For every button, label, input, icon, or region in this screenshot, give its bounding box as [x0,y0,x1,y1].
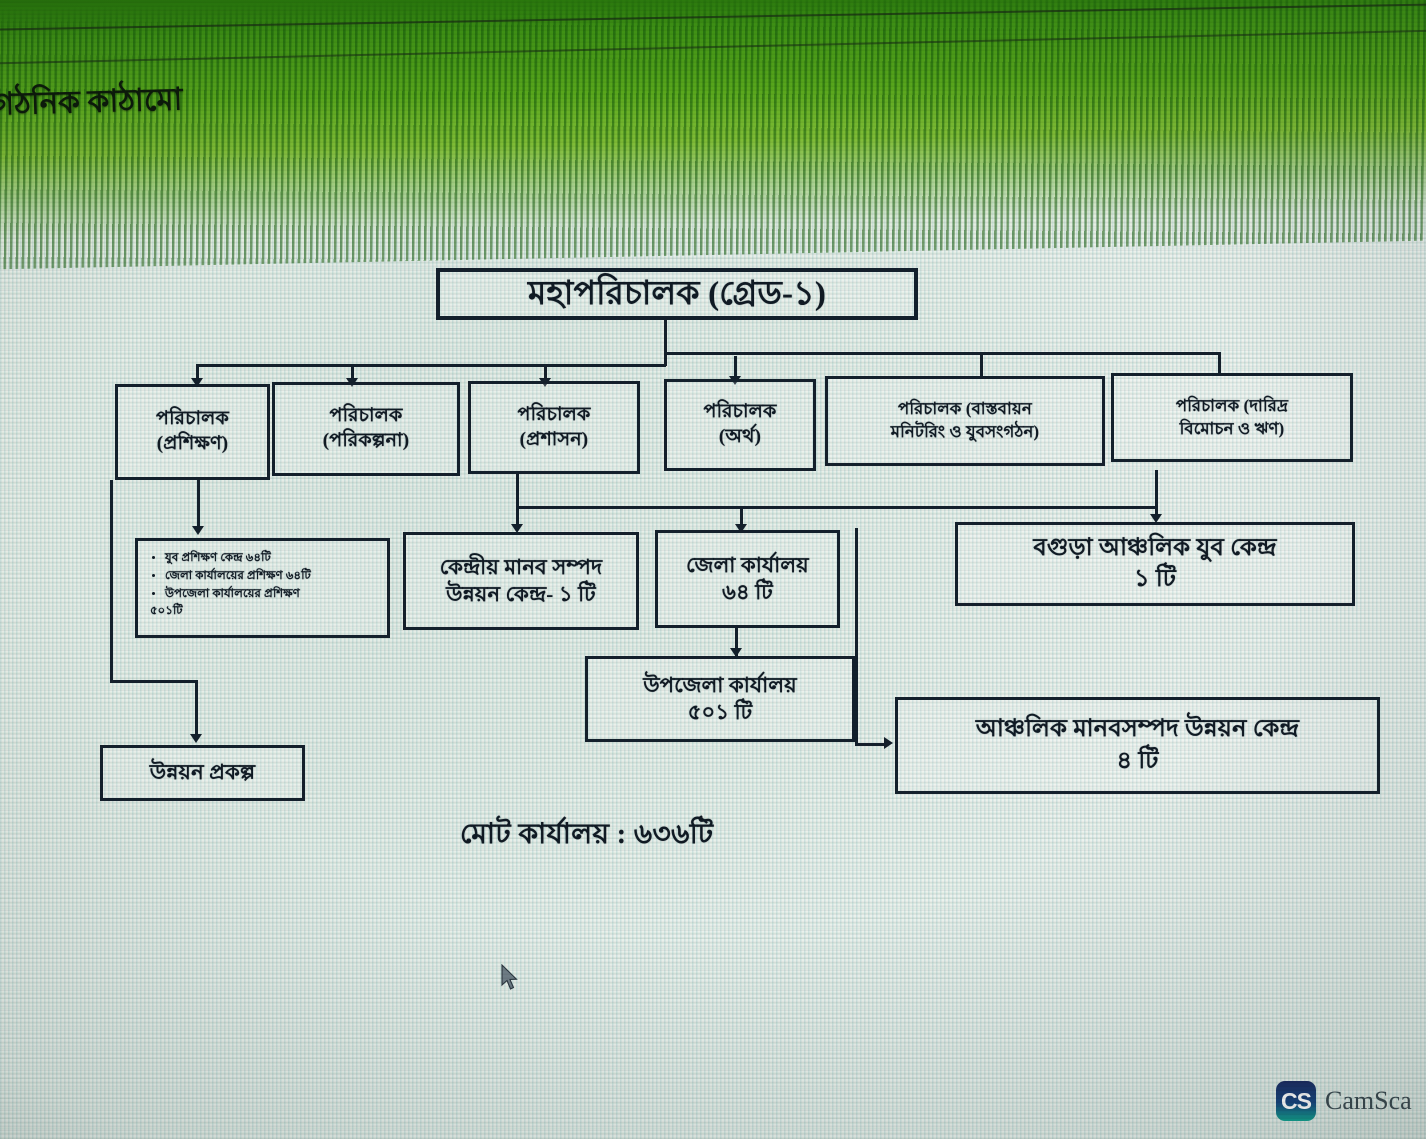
node-development-project[interactable]: উন্নয়ন প্রকল্প [100,745,305,801]
connector-bogura-down [1155,470,1158,518]
node-bogura-regional-youth-center[interactable]: বগুড়া আঞ্চলিক যুব কেন্দ্র ১ টি [955,522,1355,606]
node-upazila-office[interactable]: উপজেলা কার্যালয় ৫০১ টি [585,656,855,742]
node-label: মহাপরিচালক (গ্রেড-১) [528,273,826,316]
total-offices-caption: মোট কার্যালয় : ৬৩৬টি [460,812,713,859]
node-label-line1: জেলা কার্যালয় [686,552,809,579]
node-regional-hrd-center[interactable]: আঞ্চলিক মানবসম্পদ উন্নয়ন কেন্দ্র ৪ টি [895,697,1380,794]
node-central-hrd-center[interactable]: কেন্দ্রীয় মানব সম্পদ উন্নয়ন কেন্দ্র- ১… [403,532,639,630]
node-label-line1: বগুড়া আঞ্চলিক যুব কেন্দ্র [1033,533,1276,564]
node-label-line2: ৬৪ টি [722,579,773,606]
node-label-line2: বিমোচন ও ঋণ) [1180,418,1285,441]
node-label-line1: পরিচালক [704,400,777,425]
node-label-line2: ৫০১ টি [688,699,753,726]
node-label-line1: উপজেলা কার্যালয় [643,672,797,699]
connector-drop-6 [1218,352,1221,374]
connector-bus-right [664,352,1220,355]
list-item: যুব প্রশিক্ষণ কেন্দ্র ৬৪টি [165,550,311,568]
node-label-line2: ১ টি [1134,564,1176,595]
training-units-list: যুব প্রশিক্ষণ কেন্দ্র ৬৪টি জেলা কার্যালয… [150,550,311,621]
node-label-line1: কেন্দ্রীয় মানব সম্পদ [440,554,603,581]
node-label-line2: (প্রশাসন) [520,428,589,453]
node-label-line2: (পরিকল্পনা) [323,429,410,454]
node-label-line2: ৪ টি [1116,746,1158,777]
arrow-training-units [192,526,204,535]
node-district-office[interactable]: জেলা কার্যালয় ৬৪ টি [655,530,840,628]
node-label-line1: আঞ্চলিক মানবসম্পদ উন্নয়ন কেন্দ্র [976,714,1299,745]
camscanner-label: CamSca [1325,1086,1412,1116]
connector-tier2-bus [516,506,1156,509]
node-label-line1: পরিচালক (বাস্তবায়ন [898,398,1032,421]
node-director-finance[interactable]: পরিচালক (অর্থ) [664,379,816,471]
connector-left-rail-turn [110,680,198,683]
camscanner-watermark: CS CamSca [1276,1081,1412,1121]
connector-right-rail-turn [855,743,887,746]
connector-drop-5 [980,354,983,376]
node-director-planning[interactable]: পরিচালক (পরিকল্পনা) [272,382,460,476]
node-director-training[interactable]: পরিচালক (প্রশিক্ষণ) [115,384,270,480]
screenshot-root: গঠনিক কাঠামো মহাপরিচালক (গ্রেড-১) পরিচাল… [0,0,1426,1139]
arrow-dev-project [190,734,202,743]
connector-admin-down [516,474,519,508]
node-label-line2: উন্নয়ন কেন্দ্র- ১ টি [446,581,596,608]
connector-root-stem [664,320,667,352]
node-label-line2: (প্রশিক্ষণ) [157,432,229,457]
node-label-line1: পরিচালক [330,404,403,429]
node-director-general[interactable]: মহাপরিচালক (গ্রেড-১) [436,268,918,320]
node-director-poverty-alleviation-credit[interactable]: পরিচালক (দারিদ্র বিমোচন ও ঋণ) [1111,373,1353,462]
node-director-administration[interactable]: পরিচালক (প্রশাসন) [468,381,640,474]
node-training-units-list[interactable]: যুব প্রশিক্ষণ কেন্দ্র ৬৪টি জেলা কার্যালয… [135,538,390,638]
connector-devproject-down [195,680,198,738]
camscanner-logo-icon: CS [1276,1081,1316,1121]
node-label-line1: পরিচালক [156,407,229,432]
connector-right-rail [855,528,858,743]
node-label-line2: (অর্থ) [719,425,761,450]
list-item: জেলা কার্যালয়ের প্রশিক্ষণ ৬৪টি [165,568,311,586]
arrow-regional-hrd [884,737,893,749]
node-label-line1: পরিচালক (দারিদ্র [1176,395,1288,418]
organizational-chart: মহাপরিচালক (গ্রেড-১) পরিচালক (প্রশিক্ষণ)… [0,0,1426,1139]
connector-left-rail [110,480,113,680]
node-label-line1: পরিচালক [518,403,591,428]
node-director-implementation-monitoring[interactable]: পরিচালক (বাস্তবায়ন মনিটরিং ও যুবসংগঠন) [825,376,1105,466]
connector-training-down [197,480,200,530]
mouse-cursor [500,964,520,992]
node-label-line2: মনিটরিং ও যুবসংগঠন) [891,421,1039,444]
list-item-continued: ৫০১টি [150,603,311,621]
connector-bus-left [196,364,666,367]
list-item: উপজেলা কার্যালয়ের প্রশিক্ষণ [165,586,311,604]
node-label: উন্নয়ন প্রকল্প [150,759,255,786]
connector-bus-joint [664,352,667,366]
